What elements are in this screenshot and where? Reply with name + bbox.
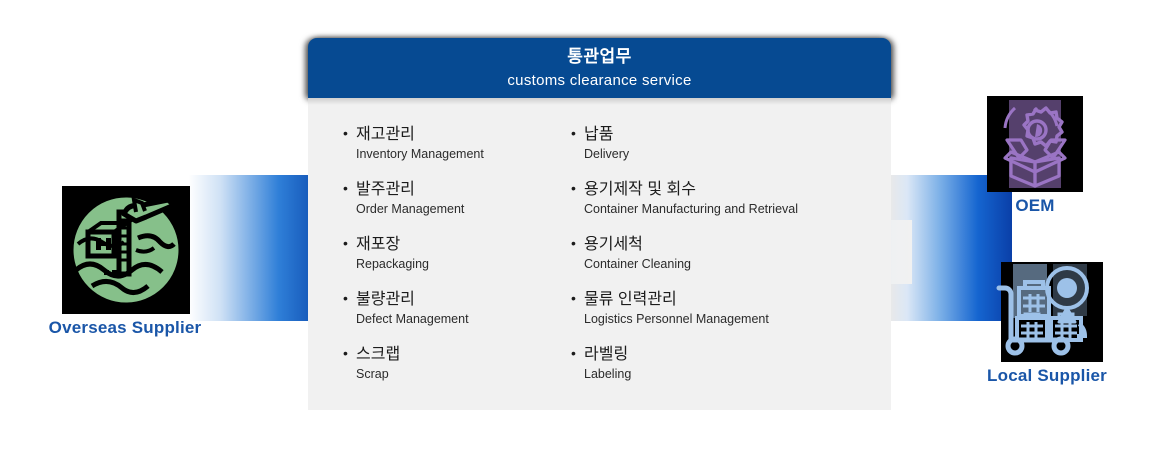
list-item-korean: 재포장	[342, 234, 570, 255]
list-item-english: Defect Management	[342, 311, 570, 328]
list-item: 용기세척 Container Cleaning	[570, 234, 870, 273]
list-item: 물류 인력관리 Logistics Personnel Management	[570, 289, 870, 328]
list-item-korean: 물류 인력관리	[570, 289, 870, 310]
card-title-english: customs clearance service	[308, 70, 891, 92]
customs-clearance-card: 통관업무 customs clearance service 재고관리 Inve…	[308, 38, 891, 410]
list-item-korean: 용기세척	[570, 234, 870, 255]
card-header: 통관업무 customs clearance service	[308, 38, 891, 98]
gear-in-open-box-icon	[987, 96, 1083, 192]
list-item: 불량관리 Defect Management	[342, 289, 570, 328]
list-item-korean: 불량관리	[342, 289, 570, 310]
list-item: 납품 Delivery	[570, 124, 870, 163]
globe-airplane-shipping-icon	[62, 186, 190, 314]
list-item-english: Logistics Personnel Management	[570, 311, 870, 328]
node-local-supplier: Local Supplier	[962, 262, 1132, 386]
list-item-english: Labeling	[570, 366, 870, 383]
diagram-canvas: 통관업무 customs clearance service 재고관리 Inve…	[0, 0, 1154, 450]
node-label-local-supplier: Local Supplier	[962, 366, 1132, 386]
list-item-korean: 용기제작 및 회수	[570, 179, 870, 200]
service-list-right: 납품 Delivery 용기제작 및 회수 Container Manufact…	[570, 124, 870, 410]
hand-truck-boxes-location-pin-icon	[987, 262, 1103, 362]
list-item-english: Container Cleaning	[570, 256, 870, 273]
list-item: 라벨링 Labeling	[570, 344, 870, 383]
card-title-korean: 통관업무	[308, 46, 891, 68]
list-item-korean: 발주관리	[342, 179, 570, 200]
list-item-korean: 스크랩	[342, 344, 570, 365]
node-label-overseas-supplier: Overseas Supplier	[22, 318, 228, 338]
node-oem: OEM	[975, 96, 1095, 216]
list-item-korean: 납품	[570, 124, 870, 145]
list-item: 재고관리 Inventory Management	[342, 124, 570, 163]
list-item-korean: 재고관리	[342, 124, 570, 145]
card-body: 재고관리 Inventory Management 발주관리 Order Man…	[308, 98, 891, 410]
service-list-left: 재고관리 Inventory Management 발주관리 Order Man…	[342, 124, 570, 410]
list-item-korean: 라벨링	[570, 344, 870, 365]
list-item-english: Order Management	[342, 201, 570, 218]
list-item-english: Inventory Management	[342, 146, 570, 163]
list-item: 용기제작 및 회수 Container Manufacturing and Re…	[570, 179, 870, 218]
list-item-english: Delivery	[570, 146, 870, 163]
list-item: 재포장 Repackaging	[342, 234, 570, 273]
node-overseas-supplier: Overseas Supplier	[22, 186, 228, 338]
node-label-oem: OEM	[975, 196, 1095, 216]
list-item-english: Repackaging	[342, 256, 570, 273]
list-item: 스크랩 Scrap	[342, 344, 570, 383]
list-item-english: Container Manufacturing and Retrieval	[570, 201, 870, 218]
list-item-english: Scrap	[342, 366, 570, 383]
list-item: 발주관리 Order Management	[342, 179, 570, 218]
